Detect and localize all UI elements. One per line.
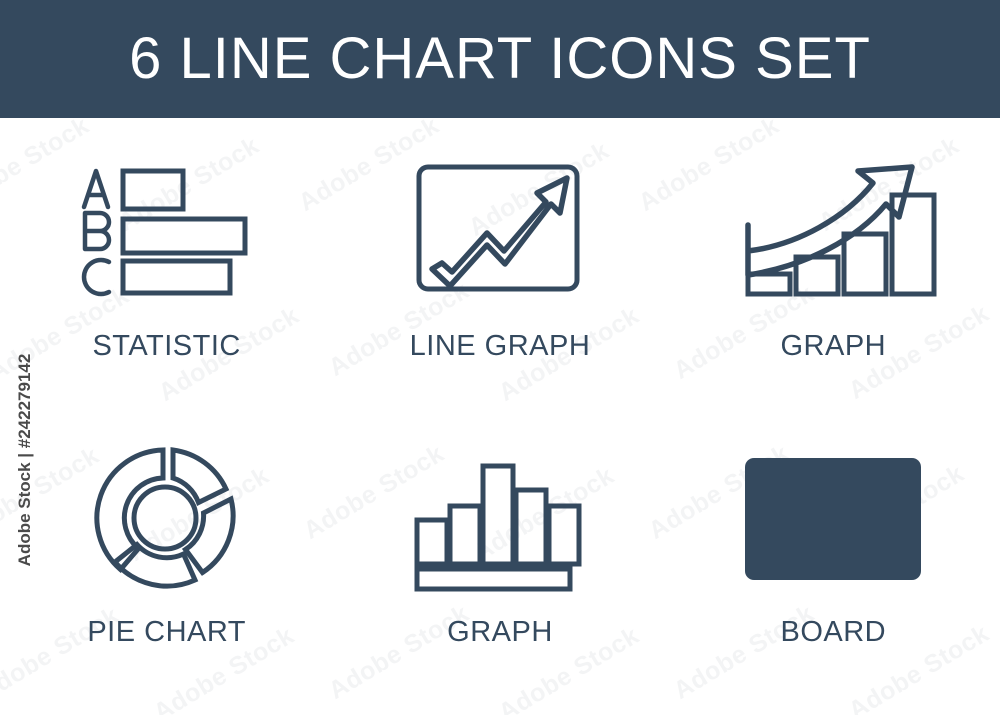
icon-cell-board[interactable]: BOARD [667,417,1000,715]
graph-bars-icon-box [412,429,587,614]
icon-grid: STATISTIC LINE GRAPH [0,118,1000,715]
line-graph-icon [415,161,585,301]
icon-label-statistic: STATISTIC [92,330,240,363]
board-icon-box [743,429,923,614]
icon-label-line-graph: LINE GRAPH [410,330,591,363]
icon-cell-pie-chart[interactable]: PIE CHART [0,417,333,715]
icon-label-pie-chart: PIE CHART [87,616,246,649]
pie-chart-icon [77,446,257,596]
icon-cell-line-graph[interactable]: LINE GRAPH [333,118,666,417]
board-icon [743,456,923,586]
statistic-icon [72,161,262,301]
line-graph-icon-box [415,136,585,326]
icon-label-graph-growth: GRAPH [781,330,887,363]
icon-cell-statistic[interactable]: STATISTIC [0,118,333,417]
statistic-icon-box [72,136,262,326]
graph-growth-icon [738,159,928,304]
graph-bars-icon [412,449,587,594]
graph-growth-icon-box [738,136,928,326]
header-banner: 6 LINE CHART ICONS SET [0,0,1000,118]
icon-set-page: Adobe Stock Adobe Stock Adobe Stock Adob… [0,0,1000,715]
icon-cell-graph-bars[interactable]: GRAPH [333,417,666,715]
page-title: 6 LINE CHART ICONS SET [129,30,871,88]
icon-label-graph-bars: GRAPH [447,616,553,649]
icon-label-board: BOARD [781,616,887,649]
icon-cell-graph-growth[interactable]: GRAPH [667,118,1000,417]
pie-chart-icon-box [77,429,257,614]
